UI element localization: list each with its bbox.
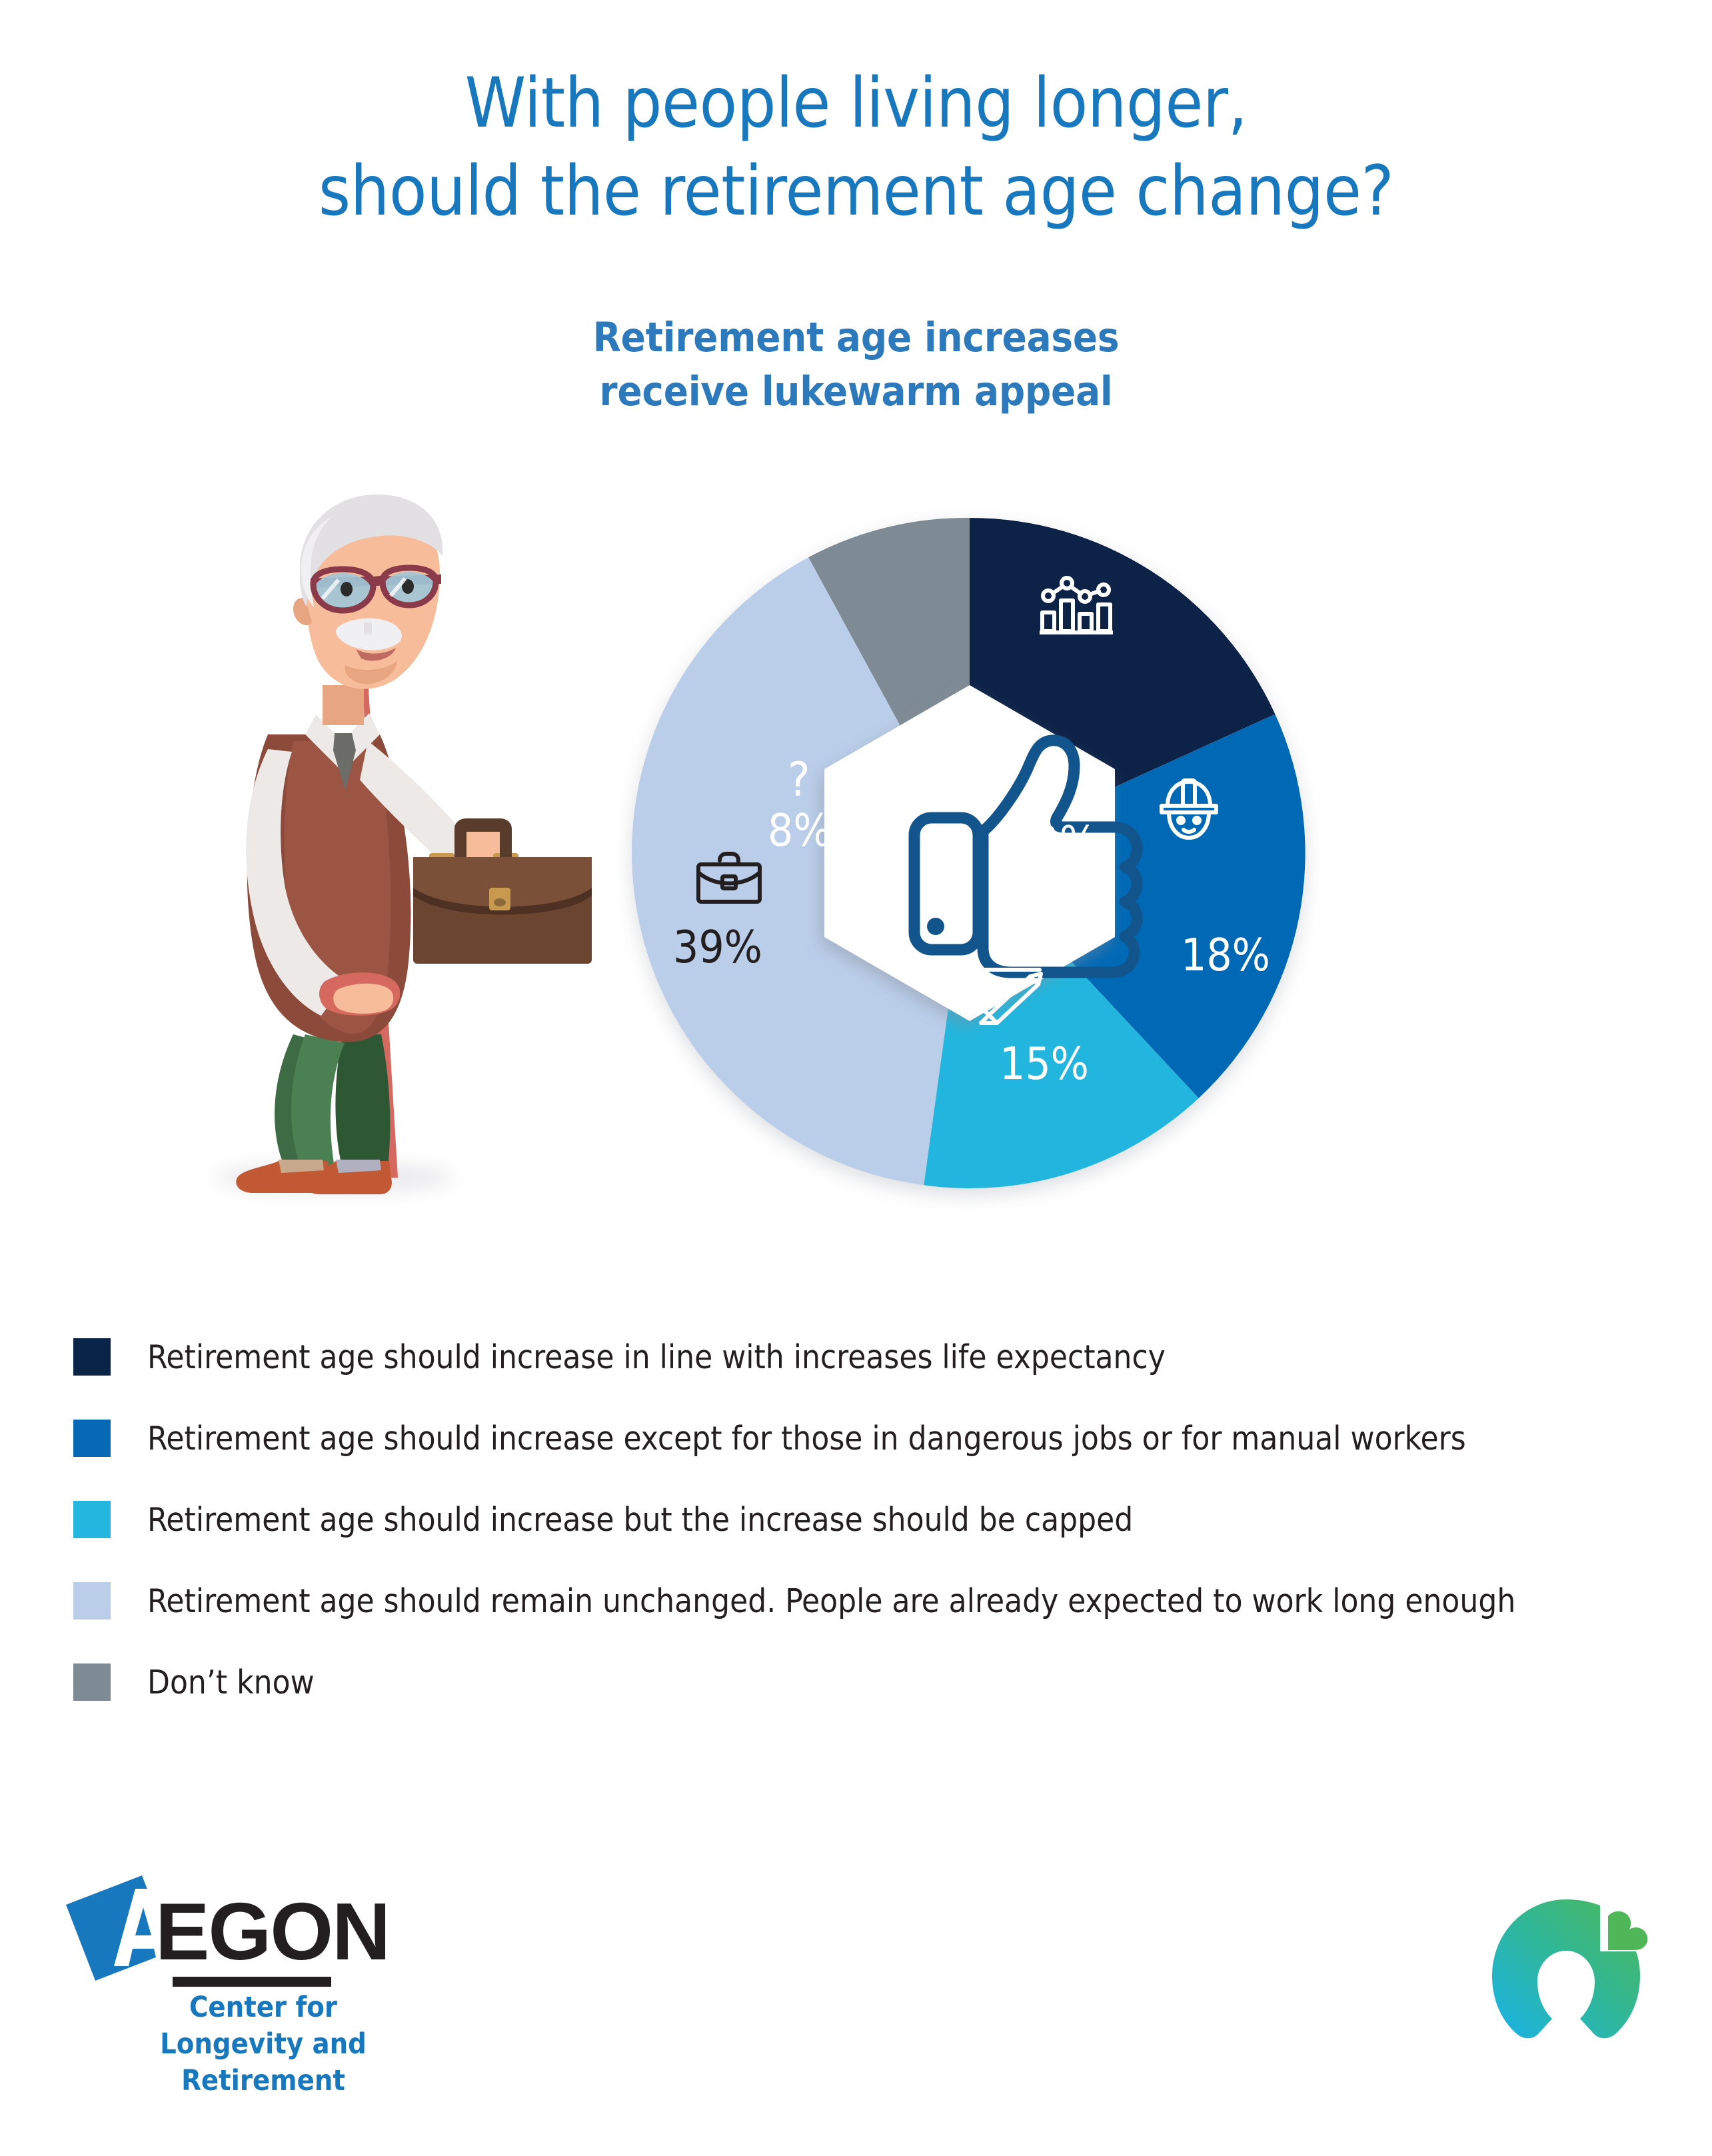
briefcase-icon [694, 850, 764, 909]
bar-chart-icon [1040, 575, 1113, 642]
chart-subtitle-line-2: receive lukewarm appeal [0, 365, 1712, 419]
pie-chart: 20% 18% 15% 39% ? 8% [620, 503, 1319, 1210]
elderly-man-illustration [168, 448, 594, 1208]
aegon-tagline-line-1: Center for [143, 1989, 383, 2026]
aegon-tagline-line-3: Retirement [143, 2063, 383, 2099]
legend-swatch-icon [73, 1338, 111, 1376]
page-title-line-2: should the retirement age change? [0, 148, 1712, 236]
legend-swatch-icon [73, 1501, 111, 1538]
legend-item: Retirement age should increase except fo… [73, 1398, 1659, 1479]
legend-item: Retirement age should increase in line w… [73, 1316, 1659, 1398]
legend-item-label: Retirement age should remain unchanged. … [147, 1582, 1515, 1620]
slice-value-increase-with-life-expectancy: 20% [1008, 820, 1098, 865]
hard-hat-worker-icon [1158, 776, 1220, 845]
aegon-tagline-line-2: Longevity and [143, 2026, 383, 2063]
legend-item: Retirement age should increase but the i… [73, 1479, 1659, 1560]
legend-swatch-icon [73, 1582, 111, 1619]
page-title: With people living longer, should the re… [0, 60, 1712, 236]
person-heart-icon [1463, 1869, 1669, 2076]
legend-swatch-icon [73, 1663, 111, 1701]
chart-subtitle: Retirement age increases receive lukewar… [0, 311, 1712, 419]
chart-legend: Retirement age should increase in line w… [73, 1316, 1659, 1723]
slice-value-dont-know: 8% [768, 808, 832, 853]
aegon-tagline: Center for Longevity and Retirement [143, 1989, 383, 2099]
question-mark-icon: ? [788, 756, 810, 803]
aegon-wordmark: EGON [155, 1886, 389, 1977]
slice-value-remain-unchanged: 39% [673, 925, 762, 970]
legend-item: Retirement age should remain unchanged. … [73, 1560, 1659, 1641]
pencil-icon [972, 962, 1045, 1029]
legend-swatch-icon [73, 1420, 111, 1457]
slice-value-except-dangerous-jobs: 18% [1181, 933, 1270, 978]
page-title-line-1: With people living longer, [0, 60, 1712, 148]
chart-subtitle-line-1: Retirement age increases [0, 311, 1712, 365]
legend-item-label: Retirement age should increase except fo… [147, 1420, 1466, 1458]
slice-value-capped-increase: 15% [1000, 1042, 1089, 1086]
legend-item-label: Retirement age should increase but the i… [147, 1501, 1133, 1539]
legend-item-label: Don’t know [147, 1663, 315, 1701]
legend-item: Don’t know [73, 1641, 1659, 1723]
legend-item-label: Retirement age should increase in line w… [147, 1338, 1166, 1376]
